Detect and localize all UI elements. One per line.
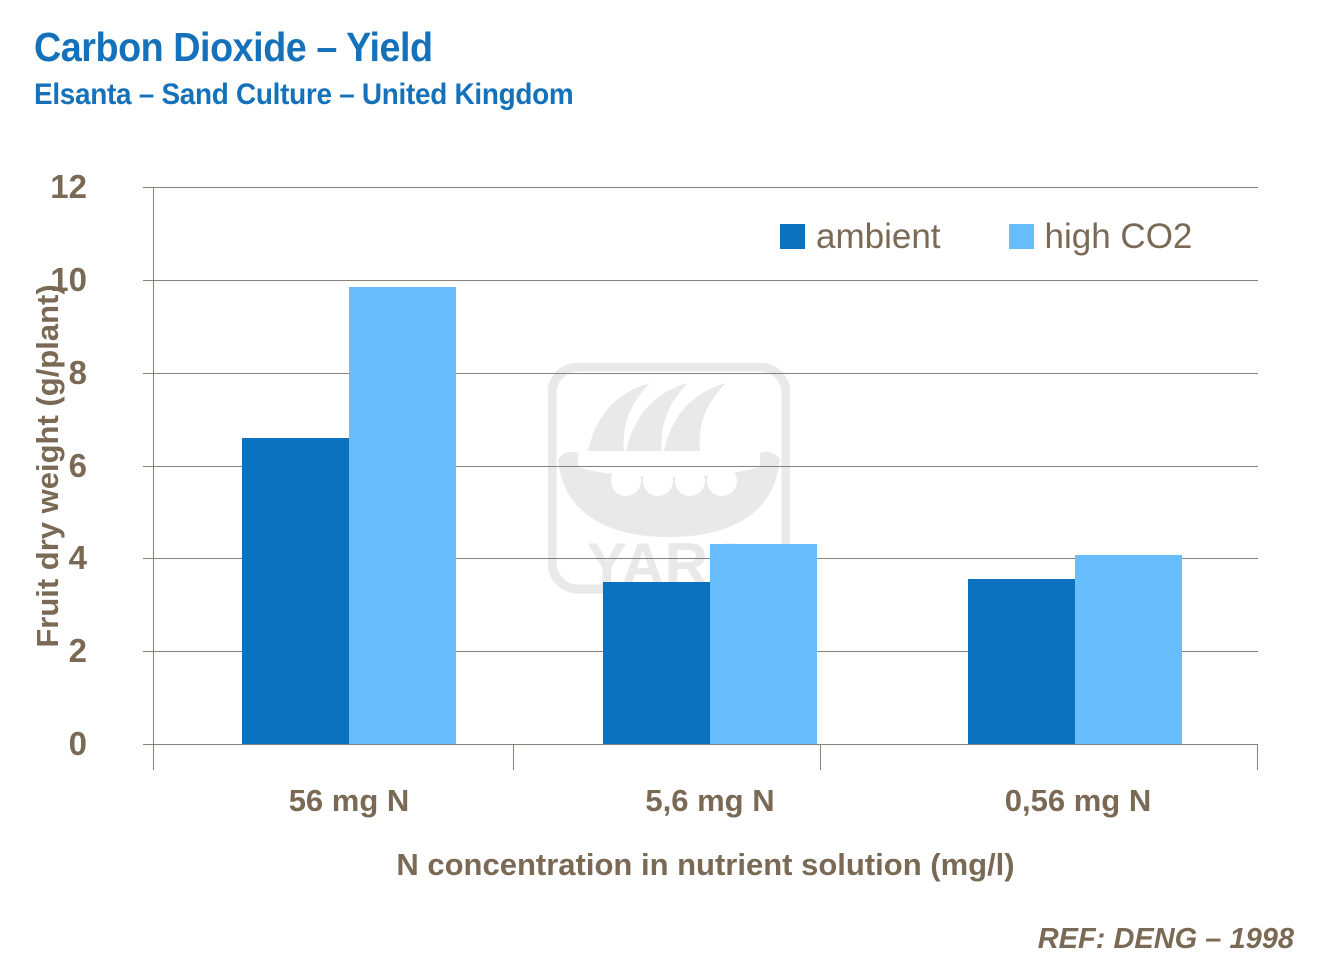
gridline-8 [153, 373, 1258, 374]
x-tick-label-0-56: 0,56 mg N [1005, 783, 1151, 819]
y-tick-0 [143, 744, 153, 745]
y-tick-8 [143, 373, 153, 374]
bar-ambient-0-56 [968, 579, 1075, 744]
y-axis-line [153, 187, 154, 744]
y-tick-label-12: 12 [27, 168, 87, 206]
page-subtitle: Elsanta – Sand Culture – United Kingdom [34, 78, 573, 111]
legend-swatch-icon-high-co2 [1009, 224, 1034, 249]
y-tick-10 [143, 280, 153, 281]
y-axis-title: Fruit dry weight (g/plant) [30, 284, 66, 647]
legend-swatch-icon-ambient [780, 224, 805, 249]
bar-highco2-56 [349, 287, 456, 744]
page-title: Carbon Dioxide – Yield [34, 26, 568, 69]
bar-highco2-0-56 [1075, 555, 1182, 744]
title-block: Carbon Dioxide – Yield Elsanta – Sand Cu… [34, 26, 614, 111]
legend-label-ambient: ambient [816, 219, 941, 254]
x-tick-1 [513, 744, 514, 770]
x-tick-label-56: 56 mg N [289, 783, 410, 819]
x-tick-start [153, 744, 154, 770]
x-axis-line [153, 744, 1258, 745]
reference-note: REF: DENG – 1998 [1038, 923, 1294, 956]
legend: ambient high CO2 [780, 219, 1192, 254]
chart-plot-area: YARA 12 10 8 6 4 2 0 Fruit dry weight (g… [153, 187, 1258, 744]
bar-ambient-5-6 [603, 582, 710, 744]
gridline-12 [153, 187, 1258, 188]
legend-item-high-co2[interactable]: high CO2 [1009, 219, 1193, 254]
bar-ambient-56 [242, 438, 349, 744]
y-tick-6 [143, 466, 153, 467]
bar-highco2-5-6 [710, 544, 817, 744]
legend-label-high-co2: high CO2 [1045, 219, 1193, 254]
x-tick-2 [820, 744, 821, 770]
y-tick-label-0: 0 [27, 725, 87, 763]
x-axis-title: N concentration in nutrient solution (mg… [396, 847, 1014, 883]
y-tick-4 [143, 558, 153, 559]
x-tick-end [1257, 744, 1258, 770]
gridline-10 [153, 280, 1258, 281]
y-tick-2 [143, 651, 153, 652]
y-tick-12 [143, 187, 153, 188]
x-tick-label-5-6: 5,6 mg N [645, 783, 774, 819]
legend-item-ambient[interactable]: ambient [780, 219, 941, 254]
